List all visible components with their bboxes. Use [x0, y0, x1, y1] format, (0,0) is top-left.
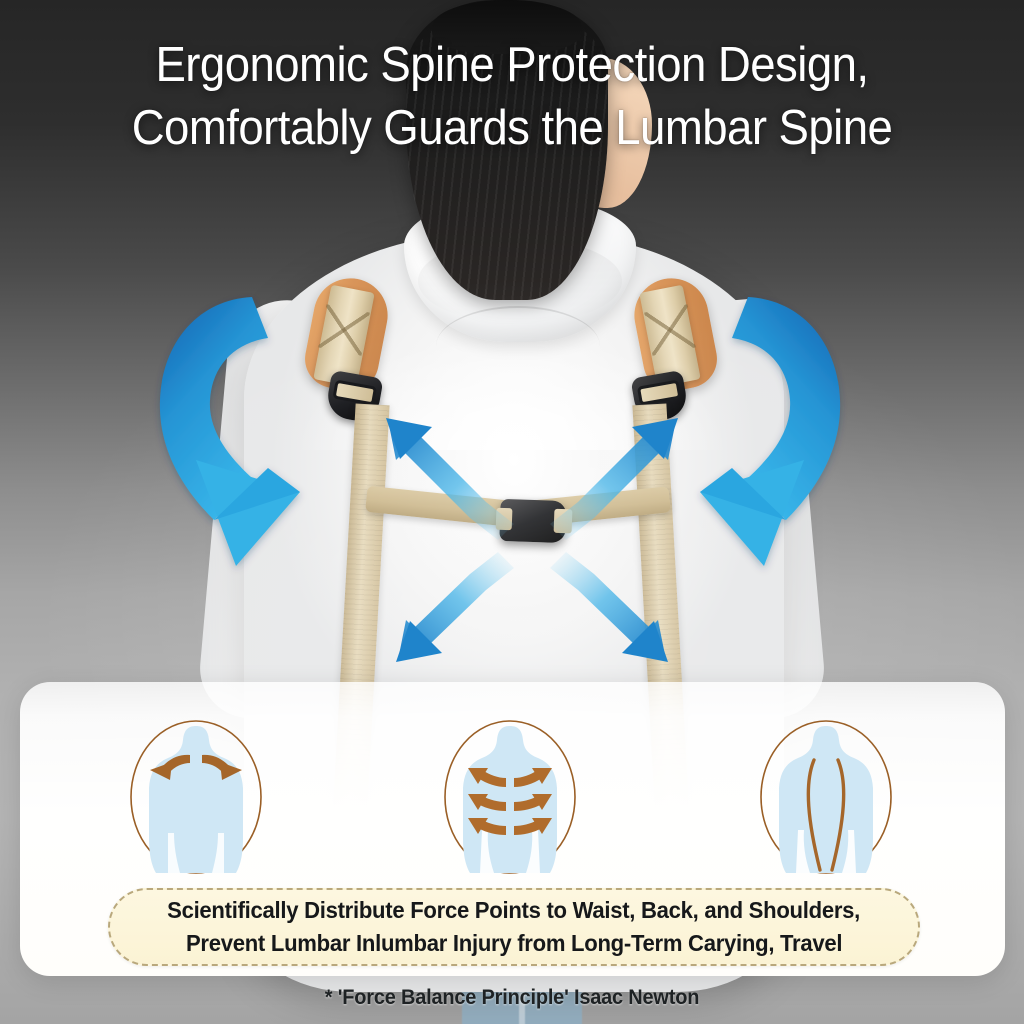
benefits-panel: Scientifically Distribute Force Points t…	[20, 682, 1005, 976]
right-x-stitch	[644, 304, 696, 356]
headline: Ergonomic Spine Protection Design, Comfo…	[36, 34, 988, 160]
headline-line-1: Ergonomic Spine Protection Design,	[155, 38, 868, 92]
caption-pill: Scientifically Distribute Force Points t…	[108, 888, 920, 966]
left-x-stitch	[318, 304, 370, 356]
headline-line-2: Comfortably Guards the Lumbar Spine	[36, 97, 988, 160]
caption-line-2: Prevent Lumbar Inlumbar Injury from Long…	[186, 927, 842, 960]
back-lateral-arrows-icon	[442, 718, 578, 876]
chest-quick-release-buckle	[499, 499, 566, 543]
torso-silhouette	[149, 726, 243, 873]
shoulder-outward-arrows-icon	[128, 718, 264, 876]
torso-silhouette	[779, 726, 873, 873]
spine-support-curve-icon	[758, 718, 894, 876]
footnote: * 'Force Balance Principle' Isaac Newton	[26, 986, 999, 1010]
caption-line-1: Scientifically Distribute Force Points t…	[168, 894, 861, 927]
product-infographic: Ergonomic Spine Protection Design, Comfo…	[0, 0, 1024, 1024]
icon-row	[20, 682, 1005, 880]
